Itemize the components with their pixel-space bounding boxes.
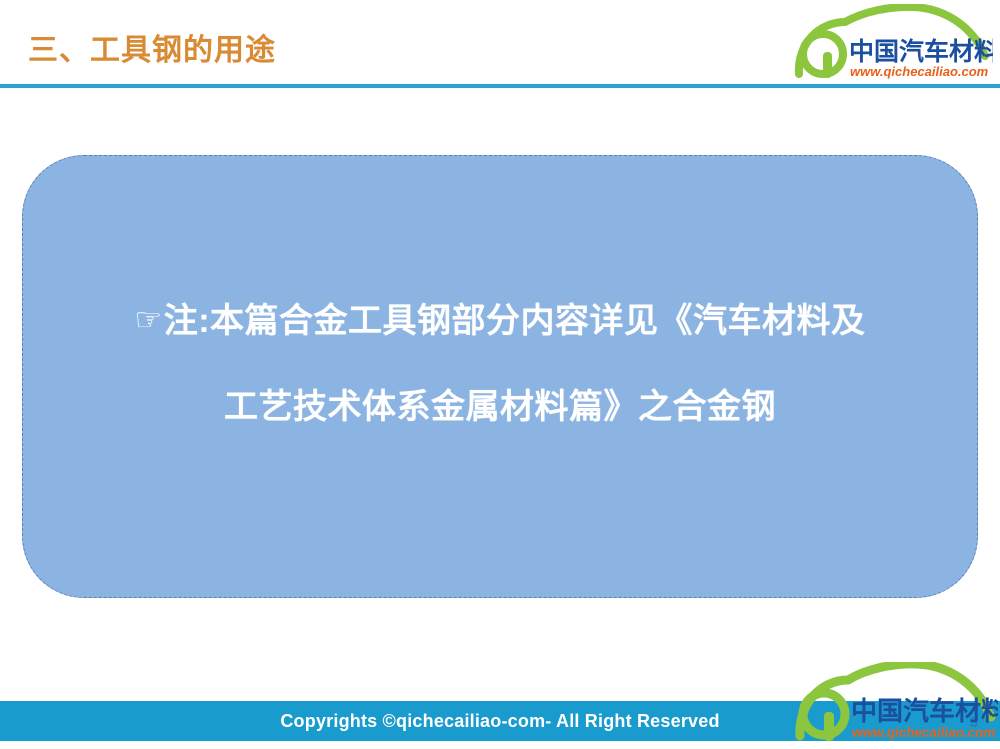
logo-brand-url-bottom: www.qichecailiao.com — [852, 725, 996, 740]
panel-line-2: 工艺技术体系金属材料篇》之合金钢 — [23, 390, 977, 424]
logo-brand-cn-bottom: 中国汽车材料网 — [851, 696, 998, 726]
header-divider — [0, 84, 1000, 88]
content-panel: ☞注:本篇合金工具钢部分内容详见《汽车材料及 工艺技术体系金属材料篇》之合金钢 — [22, 155, 978, 598]
logo-q-mark-bottom — [803, 693, 845, 741]
slide-canvas: 三、工具钢的用途 中国汽车材料网 www.qichecailiao.com ☞注… — [0, 0, 1000, 749]
page-title: 三、工具钢的用途 — [28, 33, 276, 69]
logo-brand-cn: 中国汽车材料网 — [849, 37, 993, 66]
panel-line-1: ☞注:本篇合金工具钢部分内容详见《汽车材料及 — [23, 304, 977, 338]
panel-text-block: ☞注:本篇合金工具钢部分内容详见《汽车材料及 工艺技术体系金属材料篇》之合金钢 — [23, 304, 977, 424]
site-logo-top: 中国汽车材料网 www.qichecailiao.com — [793, 4, 993, 82]
panel-line-1-text: 注:本篇合金工具钢部分内容详见《汽车材料及 — [164, 302, 866, 340]
logo-brand-url: www.qichecailiao.com — [850, 64, 989, 79]
pointing-hand-icon: ☞ — [134, 302, 162, 337]
site-logo-bottom: 中国汽车材料网 www.qichecailiao.com — [793, 662, 998, 747]
logo-q-mark — [803, 34, 843, 78]
